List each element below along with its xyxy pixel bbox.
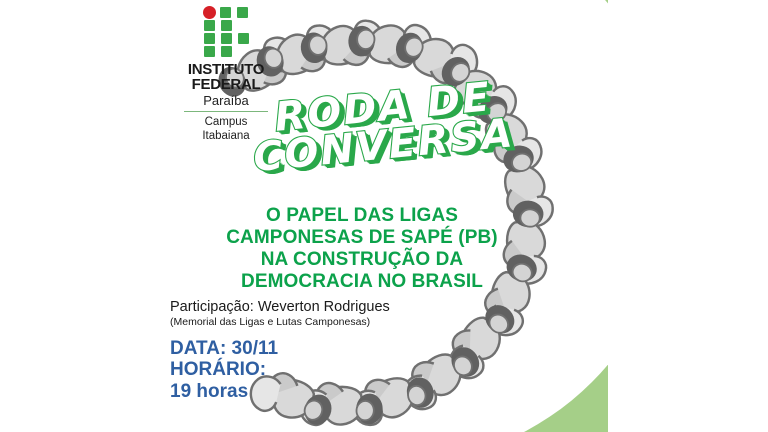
institution-name-line2: FEDERAL: [160, 77, 292, 92]
participant-name: Participação: Weverton Rodrigues: [170, 299, 510, 315]
event-datetime-block: DATA: 30/11 HORÁRIO: 19 horas: [170, 338, 390, 402]
subject-line4: DEMOCRACIA NO BRASIL: [182, 271, 542, 293]
subject-line1: O PAPEL DAS LIGAS: [182, 205, 542, 227]
participation-block: Participação: Weverton Rodrigues (Memori…: [170, 299, 510, 328]
poster: INSTITUTO FEDERAL Paraíba Campus Itabaia…: [160, 0, 608, 432]
subject-line2: CAMPONESAS DE SAPÉ (PB): [182, 227, 542, 249]
institution-name: INSTITUTO FEDERAL: [160, 62, 292, 92]
event-time-label: HORÁRIO:: [170, 359, 390, 380]
event-time-value: 19 horas: [170, 381, 390, 402]
subject-line3: NA CONSTRUÇÃO DA: [182, 249, 542, 271]
event-subject: O PAPEL DAS LIGAS CAMPONESAS DE SAPÉ (PB…: [182, 205, 542, 293]
instituto-federal-logo-icon: [203, 6, 250, 58]
participant-affiliation: (Memorial das Ligas e Lutas Camponesas): [170, 316, 510, 328]
event-date: DATA: 30/11: [170, 338, 390, 359]
